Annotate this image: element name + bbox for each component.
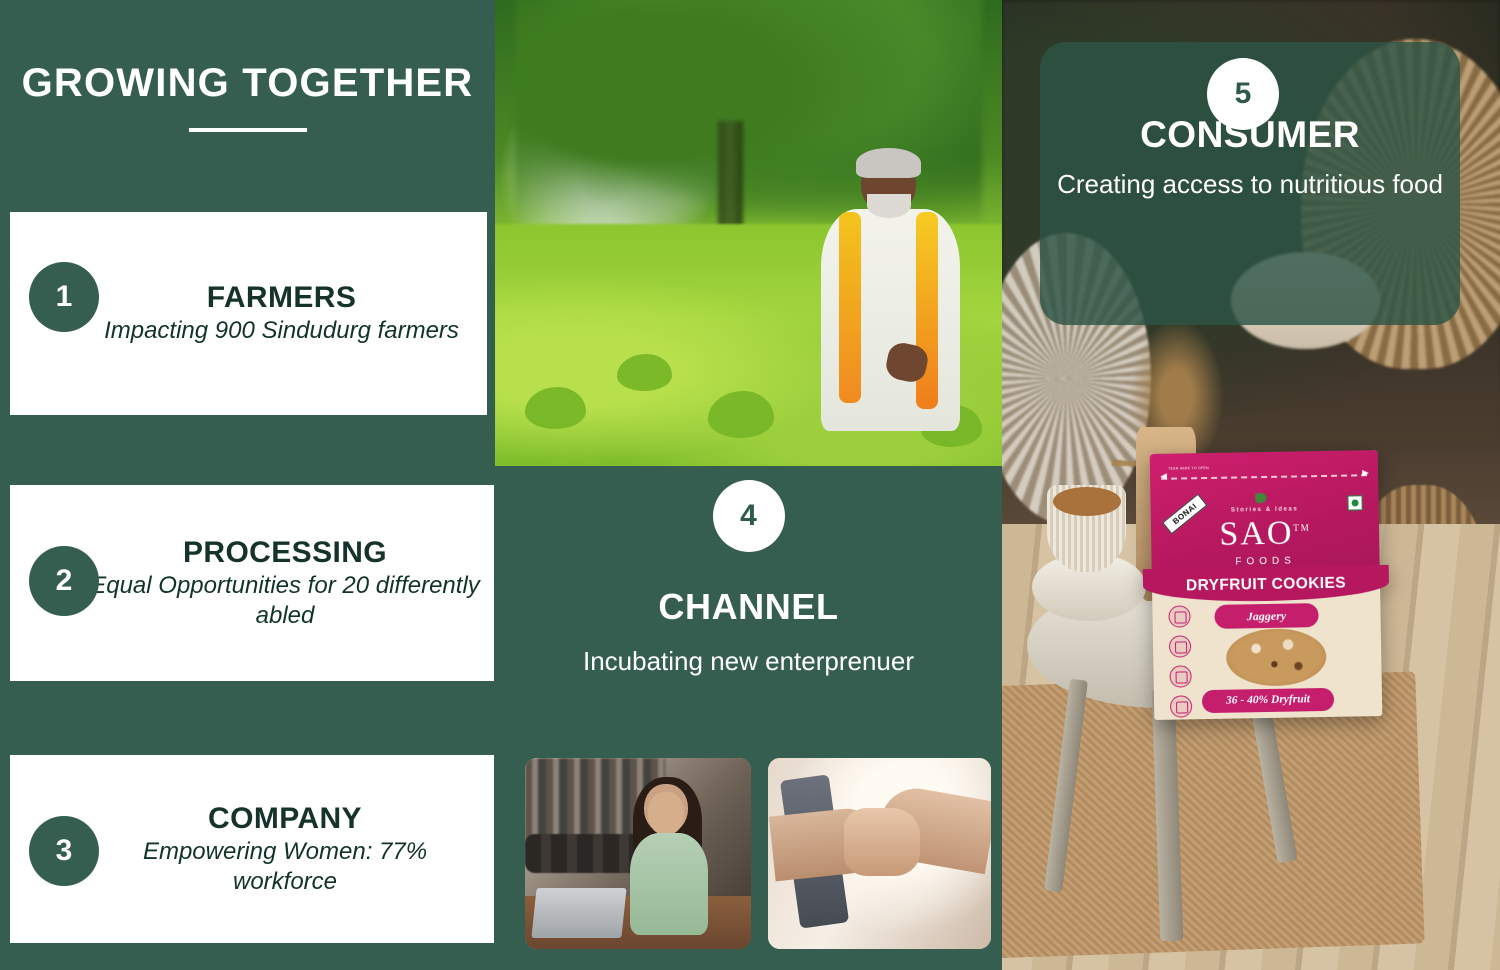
step-description-processing: Equal Opportunities for 20 differently a… <box>88 571 482 630</box>
leaf-sprig-icon <box>1255 493 1269 505</box>
step-heading-processing: PROCESSING <box>88 536 482 569</box>
crop-leaf <box>525 387 586 429</box>
woman-entrepreneur-photo <box>525 758 751 949</box>
farmer-beard <box>867 194 911 219</box>
woman-face <box>648 792 684 835</box>
step-description-channel: Incubating new enterprenuer <box>495 646 1002 677</box>
tear-notch-right-icon: ► <box>1360 468 1370 478</box>
step-heading-channel: CHANNEL <box>495 586 1002 628</box>
dryfruit-claim-badge: 36 - 40% Dryfruit <box>1202 688 1335 713</box>
feature-badge-icon <box>1168 605 1190 627</box>
handshake-photo <box>768 758 991 949</box>
feature-badge-icon <box>1169 635 1191 657</box>
tea-liquid <box>1053 487 1121 516</box>
step-number-badge-2: 2 <box>29 546 99 616</box>
crop-leaf <box>708 391 774 438</box>
farmer-figure <box>799 154 982 462</box>
page-title: GROWING TOGETHER <box>0 62 495 104</box>
farmer-photo <box>495 0 1002 466</box>
trademark-symbol: TM <box>1293 522 1311 532</box>
step-number-badge-4: 4 <box>713 480 785 552</box>
feature-badge-icon <box>1169 665 1191 687</box>
flavour-badge: Jaggery <box>1214 603 1319 629</box>
clasped-hands <box>844 808 920 877</box>
step-block-channel: 4 CHANNEL Incubating new enterprenuer <box>495 480 1002 677</box>
step-description-farmers: Impacting 900 Sindudurg farmers <box>88 316 475 345</box>
brand-name: SAOTM <box>1151 513 1380 555</box>
feature-badge-icon <box>1170 695 1192 717</box>
crop-leaf <box>617 354 673 391</box>
step-number-badge-3: 3 <box>29 816 99 886</box>
tear-notch-left-icon: ◄ <box>1158 471 1168 481</box>
farmer-hair <box>856 148 922 179</box>
step-number-badge-1: 1 <box>29 262 99 332</box>
title-underline-divider <box>189 128 307 132</box>
step-heading-farmers: FARMERS <box>88 281 475 314</box>
farmer-scarf-left <box>839 212 861 403</box>
step-heading-company: COMPANY <box>88 802 482 835</box>
woman-green-top <box>630 833 708 935</box>
title-block: GROWING TOGETHER <box>0 62 495 132</box>
tear-here-text: TEAR HERE TO OPEN <box>1168 466 1209 471</box>
product-package-sao-dryfruit-cookies: ◄ ► TEAR HERE TO OPEN BONAI Stories & Id… <box>1150 450 1383 720</box>
step-description-company: Empowering Women: 77% workforce <box>88 837 482 896</box>
laptop-icon <box>531 888 627 938</box>
step-description-consumer: Creating access to nutritious food <box>1040 168 1460 201</box>
brand-word: SAO <box>1219 514 1294 552</box>
step-number-badge-5: 5 <box>1207 58 1279 130</box>
slide-canvas: GROWING TOGETHER FARMERS Impacting 900 S… <box>0 0 1500 970</box>
woman-figure <box>624 777 714 941</box>
